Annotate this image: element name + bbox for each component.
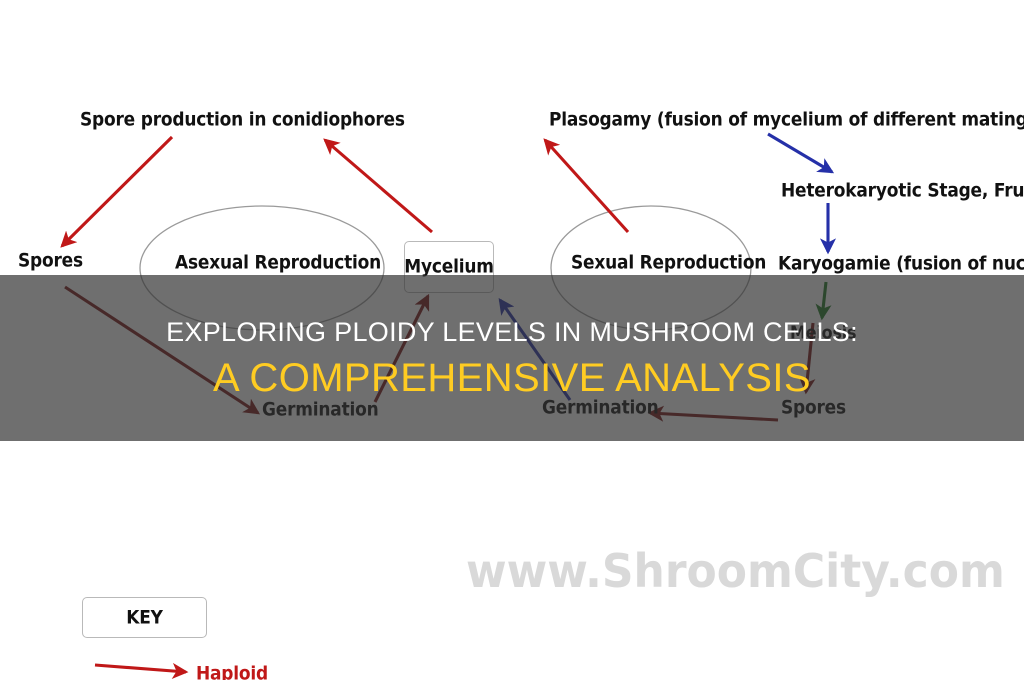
arrow-mycelium-to-spore-production — [325, 140, 432, 232]
label-spore-production: Spore production in conidiophores — [80, 109, 405, 131]
screenshot-canvas: Spore production in conidiophores Plasog… — [0, 0, 1024, 680]
label-heterokaryotic-stage: Heterokaryotic Stage, Fruiting — [781, 180, 1024, 202]
key-box[interactable]: KEY — [82, 597, 207, 638]
arrow-key-haploid — [95, 665, 186, 672]
label-plasmogamy: Plasogamy (fusion of mycelium of differe… — [549, 109, 1024, 131]
label-karyogamy: Karyogamie (fusion of nuclei) — [778, 253, 1024, 275]
label-sexual-reproduction: Sexual Reproduction — [571, 252, 766, 274]
title-banner-overlay: EXPLORING PLOIDY LEVELS IN MUSHROOM CELL… — [0, 275, 1024, 441]
banner-title: EXPLORING PLOIDY LEVELS IN MUSHROOM CELL… — [166, 319, 858, 346]
label-spores-left: Spores — [18, 250, 83, 272]
arrow-plasmogamy-to-heterokaryotic — [768, 134, 832, 172]
label-asexual-reproduction: Asexual Reproduction — [175, 252, 381, 274]
key-label: KEY — [126, 606, 163, 628]
key-entry-haploid: Haploid — [196, 663, 268, 680]
arrow-mycelium-to-plasmogamy — [545, 140, 628, 232]
banner-subtitle: A COMPREHENSIVE ANALYSIS — [213, 358, 811, 398]
site-watermark: www.ShroomCity.com — [466, 545, 1005, 599]
arrow-spore-production-to-spores — [62, 137, 172, 246]
